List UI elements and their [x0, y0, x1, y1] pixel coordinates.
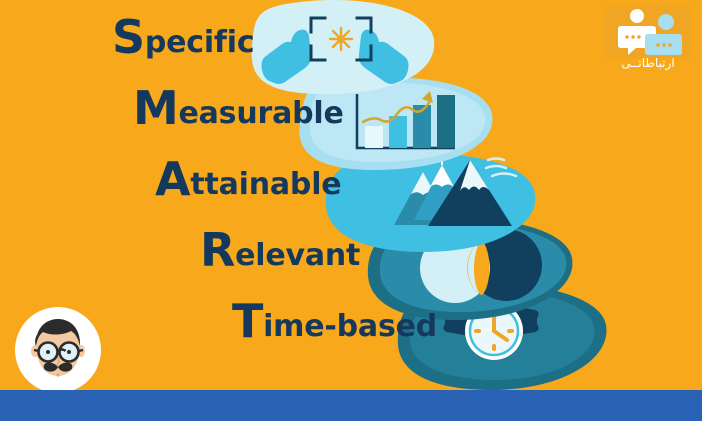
smart-item-attainable: Attainable [155, 156, 341, 202]
smart-letter-r: R [200, 223, 235, 277]
smart-word-measurable: easurable [178, 96, 343, 131]
smart-letter-t: T [232, 294, 263, 348]
smart-letter-m: M [133, 81, 178, 135]
smart-goals-infographic: Specific Measurable Attainable Relevant … [0, 0, 702, 421]
logo-badge [604, 6, 692, 58]
smart-letter-a: A [155, 152, 190, 206]
smart-item-time-based: Time-based [232, 298, 437, 344]
bottom-accent-bar [0, 390, 702, 421]
smart-item-measurable: Measurable [133, 85, 344, 131]
smart-letter-s: S [112, 10, 145, 64]
smart-word-specific: pecific [145, 25, 255, 60]
logo-text: ارتباطاتــی [604, 56, 692, 70]
illustration-cascade [0, 0, 702, 421]
bar-1 [365, 126, 383, 148]
two-people-chat-bubbles-icon [604, 6, 692, 58]
bar-4 [437, 95, 455, 148]
smart-word-relevant: elevant [235, 238, 360, 273]
brand-logo[interactable]: ارتباطاتــی [604, 6, 692, 80]
smart-item-relevant: Relevant [200, 227, 360, 273]
man-with-glasses-avatar[interactable] [14, 306, 102, 394]
smart-item-specific: Specific [112, 14, 254, 60]
smart-word-time-based: ime-based [263, 309, 437, 344]
smart-word-attainable: ttainable [190, 167, 341, 202]
